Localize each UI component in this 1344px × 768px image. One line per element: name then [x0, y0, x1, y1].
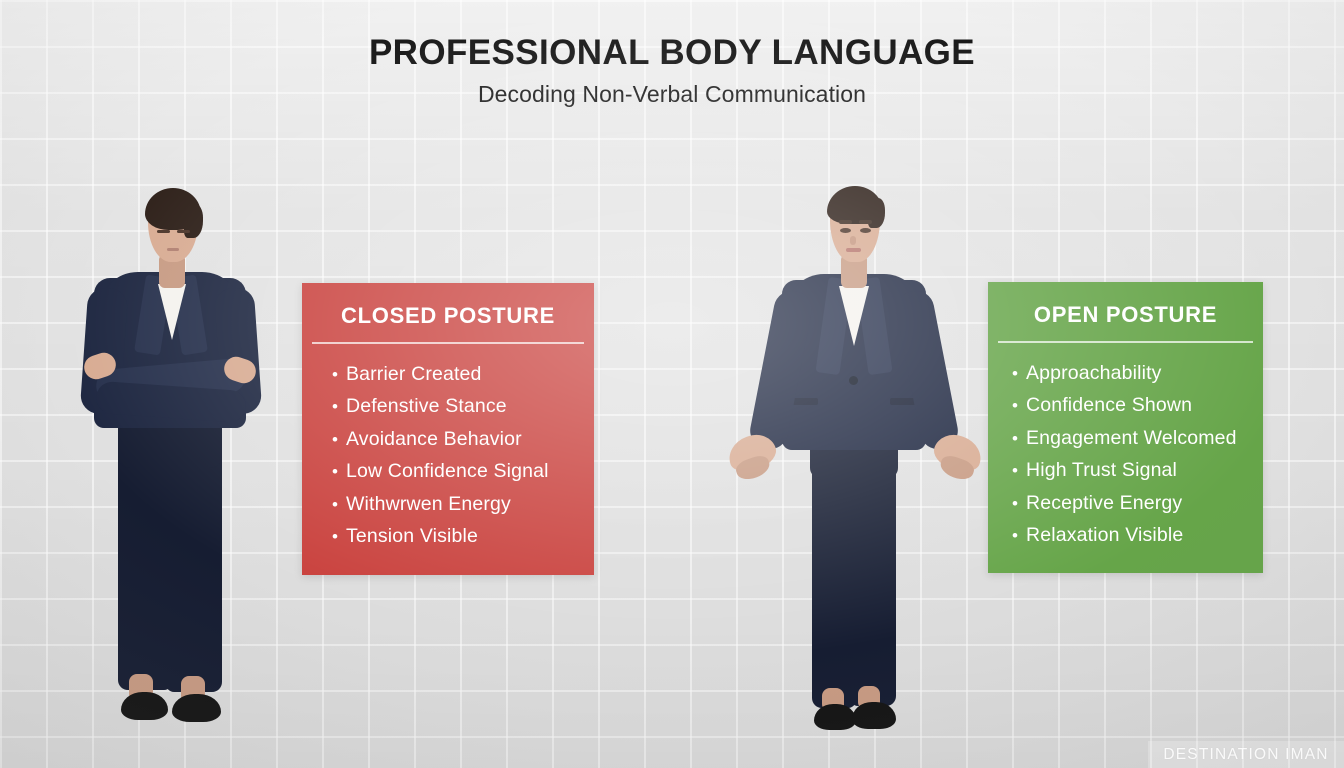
list-item: • Barrier Created: [324, 358, 594, 391]
open-mouth: [846, 248, 861, 252]
closed-shoe-right: [172, 694, 221, 722]
list-item-label: Relaxation Visible: [1026, 526, 1183, 546]
closed-shoe-left: [121, 692, 168, 720]
list-item: • Avoidance Behavior: [324, 423, 594, 456]
open-pocket-left: [792, 398, 818, 405]
panel-open-posture: OPEN POSTURE • Approachability • Confide…: [988, 282, 1263, 573]
bullet-icon: •: [1004, 495, 1026, 512]
bullet-icon: •: [1004, 527, 1026, 544]
open-shoe-right: [852, 702, 896, 729]
bullet-icon: •: [1004, 365, 1026, 382]
list-item: • Receptive Energy: [1004, 487, 1263, 520]
panel-open-heading: OPEN POSTURE: [988, 282, 1263, 341]
open-pocket-right: [890, 398, 916, 405]
panel-open-list: • Approachability • Confidence Shown • E…: [988, 343, 1263, 552]
bullet-icon: •: [1004, 430, 1026, 447]
page-subtitle: Decoding Non-Verbal Communication: [0, 81, 1344, 108]
bullet-icon: •: [324, 431, 346, 448]
list-item-label: Withwrwen Energy: [346, 495, 511, 515]
list-item-label: Defenstive Stance: [346, 397, 507, 417]
page-title: PROFESSIONAL BODY LANGUAGE: [0, 34, 1344, 72]
figure-open-posture: [706, 168, 996, 733]
list-item: • Confidence Shown: [1004, 390, 1263, 423]
bullet-icon: •: [324, 398, 346, 415]
list-item-label: Confidence Shown: [1026, 396, 1192, 416]
bullet-icon: •: [324, 528, 346, 545]
list-item: • High Trust Signal: [1004, 455, 1263, 488]
watermark: DESTINATION IMAN: [1148, 741, 1344, 768]
list-item: • Engagement Welcomed: [1004, 422, 1263, 455]
open-brow-left: [839, 220, 852, 224]
figure-closed-posture: [66, 168, 296, 733]
list-item-label: Approachability: [1026, 364, 1162, 384]
list-item: • Approachability: [1004, 357, 1263, 390]
closed-eye-right: [177, 230, 190, 233]
panel-closed-list: • Barrier Created • Defenstive Stance • …: [302, 344, 594, 553]
list-item: • Withwrwen Energy: [324, 488, 594, 521]
open-eye-right: [860, 228, 871, 233]
list-item-label: High Trust Signal: [1026, 461, 1177, 481]
open-shoe-left: [814, 704, 856, 730]
list-item-label: Receptive Energy: [1026, 494, 1182, 514]
bullet-icon: •: [324, 496, 346, 513]
list-item-label: Avoidance Behavior: [346, 430, 522, 450]
open-eye-left: [840, 228, 851, 233]
bullet-icon: •: [1004, 462, 1026, 479]
list-item: • Relaxation Visible: [1004, 520, 1263, 553]
infographic-canvas: PROFESSIONAL BODY LANGUAGE Decoding Non-…: [0, 0, 1344, 768]
bullet-icon: •: [324, 463, 346, 480]
list-item-label: Barrier Created: [346, 365, 482, 385]
open-brow-right: [859, 220, 872, 224]
list-item: • Defenstive Stance: [324, 391, 594, 424]
closed-mouth: [167, 248, 179, 251]
bullet-icon: •: [1004, 397, 1026, 414]
list-item: • Tension Visible: [324, 521, 594, 554]
list-item-label: Low Confidence Signal: [346, 462, 549, 482]
bullet-icon: •: [324, 366, 346, 383]
panel-closed-heading: CLOSED POSTURE: [302, 283, 594, 342]
list-item-label: Engagement Welcomed: [1026, 429, 1237, 449]
open-nose: [850, 236, 856, 245]
closed-eye-left: [157, 230, 170, 233]
list-item: • Low Confidence Signal: [324, 456, 594, 489]
panel-closed-posture: CLOSED POSTURE • Barrier Created • Defen…: [302, 283, 594, 575]
list-item-label: Tension Visible: [346, 527, 478, 547]
open-jacket-button: [849, 376, 858, 385]
header: PROFESSIONAL BODY LANGUAGE Decoding Non-…: [0, 34, 1344, 108]
